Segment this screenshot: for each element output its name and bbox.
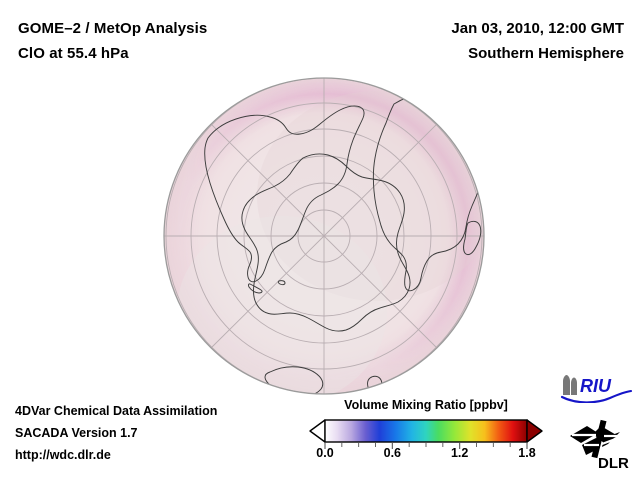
- colorbar-gradient-bar: [325, 420, 527, 442]
- software-version-label: SACADA Version 1.7: [15, 422, 217, 444]
- riu-tower-icon: [563, 375, 577, 395]
- colorbar-tick-label: 1.2: [451, 446, 468, 460]
- data-center-url[interactable]: http://wdc.dlr.de: [15, 444, 217, 466]
- dlr-logo: DLR: [568, 414, 634, 472]
- analysis-title: GOME–2 / MetOp Analysis: [18, 16, 207, 41]
- colorbar: Volume Mixing Ratio [ppbv] 0.00.61.21.8: [308, 398, 544, 470]
- dlr-wordmark: DLR: [598, 455, 629, 472]
- riu-wordmark: RIU: [580, 376, 612, 396]
- footer-credits: 4DVar Chemical Data Assimilation SACADA …: [15, 400, 217, 466]
- hemisphere-label: Southern Hemisphere: [451, 41, 624, 66]
- timestamp-label: Jan 03, 2010, 12:00 GMT: [451, 16, 624, 41]
- colorbar-svg: [308, 419, 544, 449]
- orthographic-projection-svg: [162, 76, 486, 398]
- species-level-subtitle: ClO at 55.4 hPa: [18, 41, 207, 66]
- colorbar-tick-label: 0.6: [384, 446, 401, 460]
- colorbar-title: Volume Mixing Ratio [ppbv]: [308, 398, 544, 412]
- graticule: [164, 78, 484, 394]
- assimilation-method-label: 4DVar Chemical Data Assimilation: [15, 400, 217, 422]
- colorbar-tick-label: 1.8: [518, 446, 535, 460]
- header-right: Jan 03, 2010, 12:00 GMT Southern Hemisph…: [451, 16, 624, 66]
- colorbar-underflow-arrow: [310, 420, 325, 442]
- colorbar-tick-label: 0.0: [316, 446, 333, 460]
- globe-map: [162, 76, 486, 398]
- header-left: GOME–2 / MetOp Analysis ClO at 55.4 hPa: [18, 16, 207, 66]
- colorbar-ticks: [325, 443, 527, 449]
- colorbar-overflow-arrow: [527, 420, 542, 442]
- riu-logo: RIU: [560, 373, 634, 403]
